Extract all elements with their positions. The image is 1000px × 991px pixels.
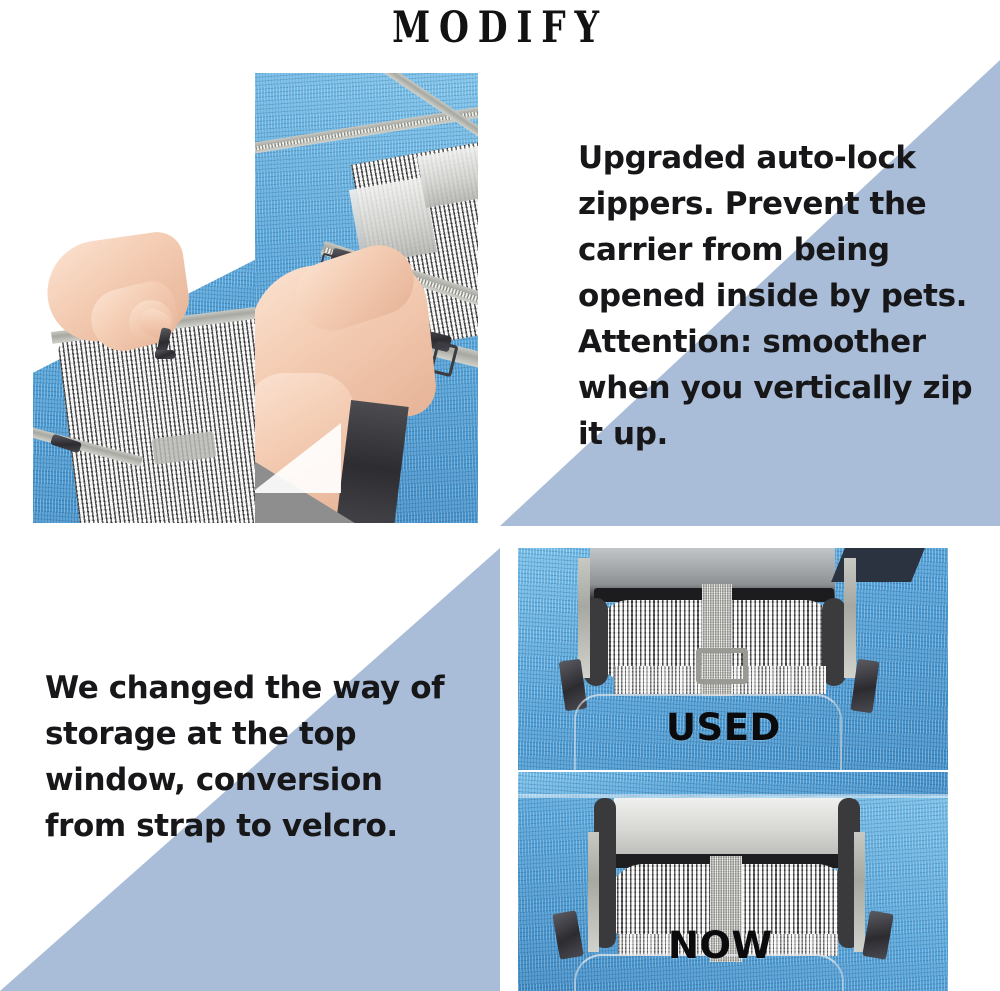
page-title: MODIFY: [100, 2, 900, 54]
photo-label-used: USED: [666, 706, 781, 749]
feature-text-zippers: Upgraded auto-lock zippers. Prevent the …: [578, 135, 978, 457]
feature-text-storage: We changed the way of storage at the top…: [45, 665, 465, 849]
photo-zipper-hand-left: [33, 190, 258, 523]
photo-used: USED: [518, 548, 948, 770]
photo-now: NOW: [518, 772, 948, 991]
photo-zipper-hand-right: [255, 73, 478, 523]
infographic-canvas: MODIFY: [0, 0, 1000, 991]
photo-label-now: NOW: [668, 924, 773, 967]
